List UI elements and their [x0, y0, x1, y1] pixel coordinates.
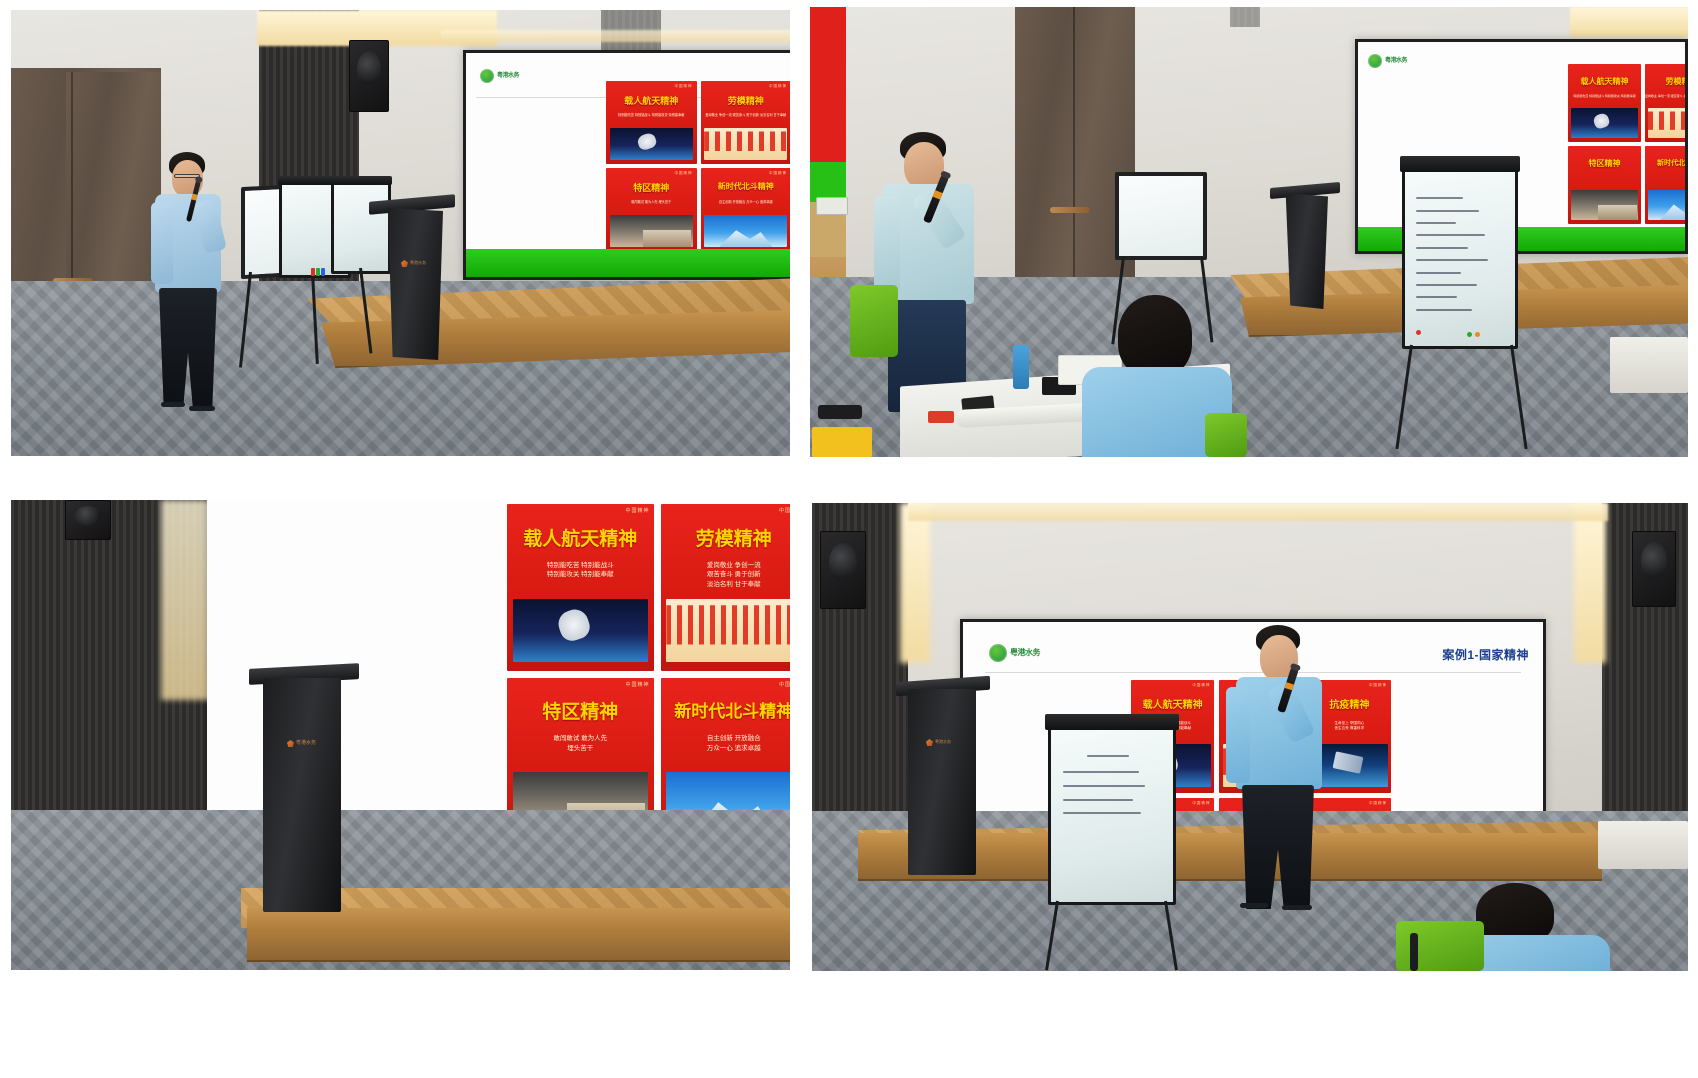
poster-card: 中国精神 劳模精神 爱岗敬业 争创一流 艰苦奋斗 勇于创新 淡泊名利 甘于奉献: [701, 81, 791, 164]
poster-title: 劳模精神: [1645, 76, 1688, 87]
poster-card: 中国精神 劳模精神 爱岗敬业 争创一流 艰苦奋斗 勇于创新 淡泊名利 甘于奉献: [661, 504, 791, 671]
poster-card: 中国精神 载人航天精神 特别能吃苦 特别能战斗 特别能攻关 特别能奉献: [606, 81, 697, 164]
poster-title: 新时代北斗精神: [701, 181, 791, 192]
poster-subtitle: 自主创新 开放融合 万众一心 追求卓越: [701, 200, 791, 205]
poster-title: 劳模精神: [701, 94, 791, 107]
leaf-circle-icon: [989, 644, 1007, 662]
marker-dot-green-icon: [1467, 332, 1472, 337]
poster-card: 中国精神 特区精神 敢闯敢试 敢为人先 埋头苦干: [606, 168, 697, 251]
marker-dot-red-icon: [1416, 330, 1421, 335]
slat-wall-tr: [1230, 7, 1260, 27]
head-back: [1118, 295, 1192, 377]
side-desk-br: [1598, 821, 1688, 869]
poster-card: 劳模精神 爱岗敬业 争创一流 艰苦奋斗 勇于创新 淡泊名利 甘于奉献: [1645, 64, 1688, 142]
flipchart-clip: [330, 176, 392, 184]
poster-subtitle: 爱岗敬业 争创一流 艰苦奋斗 勇于创新 淡泊名利 甘于奉献: [1645, 94, 1688, 99]
poster-card: 载人航天精神 特别能吃苦 特别能战斗 特别能攻关 特别能奉献: [1568, 64, 1641, 142]
podium-logo-text: 粤港水务: [935, 740, 951, 744]
ceiling-light-right-br: [1574, 503, 1606, 663]
flipchart-writing: [1416, 195, 1506, 332]
podium-bl[interactable]: 粤港水务: [263, 678, 341, 912]
photo-panel-bottom-left: 中国精神 载人航天精神 特别能吃苦 特别能战斗 特别能攻关 特别能奉献 中国精神…: [11, 500, 790, 970]
ceiling-light-left-br: [900, 503, 930, 663]
chair-green[interactable]: [850, 285, 898, 357]
screen-logo-tl: 粤港水务: [480, 69, 519, 83]
shoe-right: [189, 406, 215, 411]
photo-panel-bottom-right: 粤港水务 案例1-国家精神 中国精神 载人航天精神 特别能吃苦 特别能战斗 特别…: [812, 503, 1688, 971]
poster-image-glacier-icon: [704, 215, 787, 247]
trainer-microphone: [870, 132, 1010, 422]
poster-image-workers-icon: [1648, 108, 1688, 138]
chair-green-attendee[interactable]: [1205, 413, 1247, 457]
screen-logo-text-tr: 粤港水务: [1385, 58, 1407, 64]
leaf-circle-icon: [1368, 54, 1382, 68]
poster-title: 载人航天精神: [1568, 76, 1641, 87]
podium-br[interactable]: 粤港水务: [908, 689, 976, 875]
poster-grid-bl: 中国精神 载人航天精神 特别能吃苦 特别能战斗 特别能攻关 特别能奉献 中国精神…: [507, 504, 790, 844]
photo-panel-top-left: 粤港水务 中国精神 载人航天精神 特别能吃苦 特别能战斗 特别能攻关 特别能奉献…: [11, 10, 790, 456]
poster-tag: 中国精神: [779, 507, 790, 514]
podium-logo-br: 粤港水务: [926, 739, 951, 746]
arm-left: [151, 202, 173, 284]
poster-image-astronaut-icon: [1571, 108, 1638, 138]
trousers: [1242, 785, 1314, 909]
room-scene-tl: 粤港水务 中国精神 载人航天精神 特别能吃苦 特别能战斗 特别能攻关 特别能奉献…: [11, 10, 790, 456]
poster-card: 特区精神: [1568, 146, 1641, 224]
flipchart-writing: [1063, 752, 1163, 888]
flame-logo-icon: [287, 740, 294, 747]
shoe-left: [1240, 903, 1268, 908]
podium-logo-text: 粤港水务: [410, 261, 426, 265]
remote-icon: [818, 405, 862, 419]
poster-card: 中国精神 载人航天精神 特别能吃苦 特别能战斗 特别能攻关 特别能奉献: [507, 504, 654, 671]
poster-title: 载人航天精神: [507, 524, 654, 551]
poster-title: 载人航天精神: [606, 94, 697, 107]
red-card-icon: [928, 411, 954, 423]
flipchart-notes-tr: [1402, 167, 1518, 349]
ceiling-light2-tl: [441, 30, 790, 42]
poster-subtitle: 自主创新 开放融合 万众一心 追求卓越: [661, 734, 791, 754]
flipchart-notes-br: [1048, 725, 1176, 905]
marker-dot-orange-icon: [1475, 332, 1480, 337]
poster-subtitle: 敢闯敢试 敢为人先 埋头苦干: [606, 200, 697, 205]
marker-red-icon: [311, 268, 315, 276]
stage-front-bl: [247, 908, 790, 962]
podium-logo-text: 粤港水务: [296, 741, 316, 747]
arm-down: [874, 196, 900, 292]
speaker-right-icon-br: [1632, 531, 1676, 607]
poster-subtitle: 特别能吃苦 特别能战斗 特别能攻关 特别能奉献: [606, 113, 697, 118]
poster-image-skyline-icon: [610, 215, 693, 247]
wall-switch-icon[interactable]: [816, 197, 848, 215]
poster-tag: 中国精神: [1192, 683, 1210, 688]
ceiling-light-top-br: [908, 503, 1608, 521]
poster-title: 载人航天精神: [1131, 696, 1214, 711]
shoe-right: [1282, 905, 1312, 910]
poster-card: 新时代北斗精神: [1645, 146, 1688, 224]
poster-image-skyline-icon: [1571, 190, 1638, 220]
shoe-left: [161, 402, 185, 407]
flame-logo-icon: [401, 260, 408, 267]
presenter-glasses-blue-shirt: [131, 152, 241, 452]
poster-subtitle: 爱岗敬业 争创一流 艰苦奋斗 勇于创新 淡泊名利 甘于奉献: [701, 113, 791, 118]
trousers: [159, 288, 217, 406]
poster-title: 新时代北斗精神: [661, 697, 791, 722]
poster-image-astronaut-icon: [610, 128, 693, 160]
poster-tag: 中国精神: [769, 171, 787, 176]
poster-tag: 中国精神: [779, 681, 790, 688]
speaker-icon-bl: [65, 500, 111, 540]
led-sliver-tr: [810, 7, 846, 257]
yellow-folder-icon: [812, 427, 872, 457]
thermos-bottle-icon: [1013, 345, 1029, 389]
marker-blue-icon: [321, 268, 325, 276]
poster-tag: 中国精神: [1192, 801, 1210, 806]
poster-image-astronaut-icon: [513, 599, 648, 662]
room-scene-br: 粤港水务 案例1-国家精神 中国精神 载人航天精神 特别能吃苦 特别能战斗 特别…: [812, 503, 1688, 971]
room-scene-bl: 中国精神 载人航天精神 特别能吃苦 特别能战斗 特别能攻关 特别能奉献 中国精神…: [11, 500, 790, 970]
photo-panel-top-right: 粤港水务 载人航天精神 特别能吃苦 特别能战斗 特别能攻关 特别能奉献 劳模精神…: [810, 7, 1688, 457]
poster-subtitle: 特别能吃苦 特别能战斗 特别能攻关 特别能奉献: [1568, 94, 1641, 99]
ceiling-light2-tr: [1570, 7, 1688, 37]
room-scene-tr: 粤港水务 载人航天精神 特别能吃苦 特别能战斗 特别能攻关 特别能奉献 劳模精神…: [810, 7, 1688, 457]
poster-title: 特区精神: [1568, 158, 1641, 169]
flipchart-board: [331, 182, 391, 274]
screen-logo-text-tl: 粤港水务: [497, 73, 519, 79]
poster-card: 中国精神 新时代北斗精神 自主创新 开放融合 万众一心 追求卓越: [701, 168, 791, 251]
poster-subtitle: 爱岗敬业 争创一流 艰苦奋斗 勇于创新 淡泊名利 甘于奉献: [661, 561, 791, 590]
poster-title: 劳模精神: [661, 524, 791, 551]
screen-green-band-tl: [466, 249, 790, 277]
poster-title: 特区精神: [507, 697, 654, 724]
poster-image-workers-icon: [666, 599, 790, 662]
flipchart2-tl: [331, 182, 391, 274]
poster-subtitle: 特别能吃苦 特别能战斗 特别能攻关 特别能奉献: [507, 561, 654, 581]
poster-grid-tl: 中国精神 载人航天精神 特别能吃苦 特别能战斗 特别能攻关 特别能奉献 中国精神…: [606, 81, 790, 251]
chair-frame-right: [1410, 933, 1418, 971]
photo-collage: 粤港水务 中国精神 载人航天精神 特别能吃苦 特别能战斗 特别能攻关 特别能奉献…: [0, 0, 1698, 1078]
door-handle-tr: [1050, 207, 1090, 213]
poster-image-glacier-icon: [1648, 190, 1688, 220]
screen-logo-br: 粤港水务: [989, 644, 1040, 662]
arm-down: [1226, 687, 1250, 783]
poster-title: 特区精神: [606, 181, 697, 194]
flipchart-board: [1048, 725, 1176, 905]
poster-tag: 中国精神: [675, 171, 693, 176]
podium-tl[interactable]: 粤港水务: [383, 208, 443, 360]
poster-tag: 中国精神: [625, 681, 649, 688]
flipchart-clip: [1400, 156, 1521, 172]
podium-logo-tl: 粤港水务: [401, 260, 426, 267]
side-desk-icon: [1610, 337, 1688, 393]
flame-logo-icon: [926, 739, 933, 746]
flipchart-clip: [1045, 714, 1178, 730]
poster-tag: 中国精神: [625, 507, 649, 514]
poster-tag: 中国精神: [769, 84, 787, 89]
screen-logo-tr: 粤港水务: [1368, 54, 1407, 68]
poster-image-workers-icon: [704, 128, 787, 160]
poster-tag: 中国精神: [1369, 801, 1387, 806]
presenter-sky-shirt: [1220, 625, 1350, 925]
leaf-circle-icon: [480, 69, 494, 83]
led-screen-tl: 粤港水务 中国精神 载人航天精神 特别能吃苦 特别能战斗 特别能攻关 特别能奉献…: [463, 50, 790, 280]
marker-green-icon: [316, 268, 320, 276]
screen-title-br: 案例1-国家精神: [1442, 646, 1529, 663]
screen-logo-text-br: 粤港水务: [1010, 649, 1040, 657]
flipchart-board: [1402, 167, 1518, 349]
poster-title: 新时代北斗精神: [1645, 158, 1688, 168]
poster-subtitle: 敢闯敢试 敢为人先 埋头苦干: [507, 734, 654, 754]
poster-grid-tr: 载人航天精神 特别能吃苦 特别能战斗 特别能攻关 特别能奉献 劳模精神 爱岗敬业…: [1568, 64, 1688, 224]
speaker-left-icon-br: [820, 531, 866, 609]
poster-tag: 中国精神: [1369, 683, 1387, 688]
poster-tag: 中国精神: [675, 84, 693, 89]
whiteboard-tr: [1115, 172, 1207, 260]
podium-logo-bl: 粤港水务: [287, 740, 316, 747]
speaker-icon-tl: [349, 40, 389, 112]
